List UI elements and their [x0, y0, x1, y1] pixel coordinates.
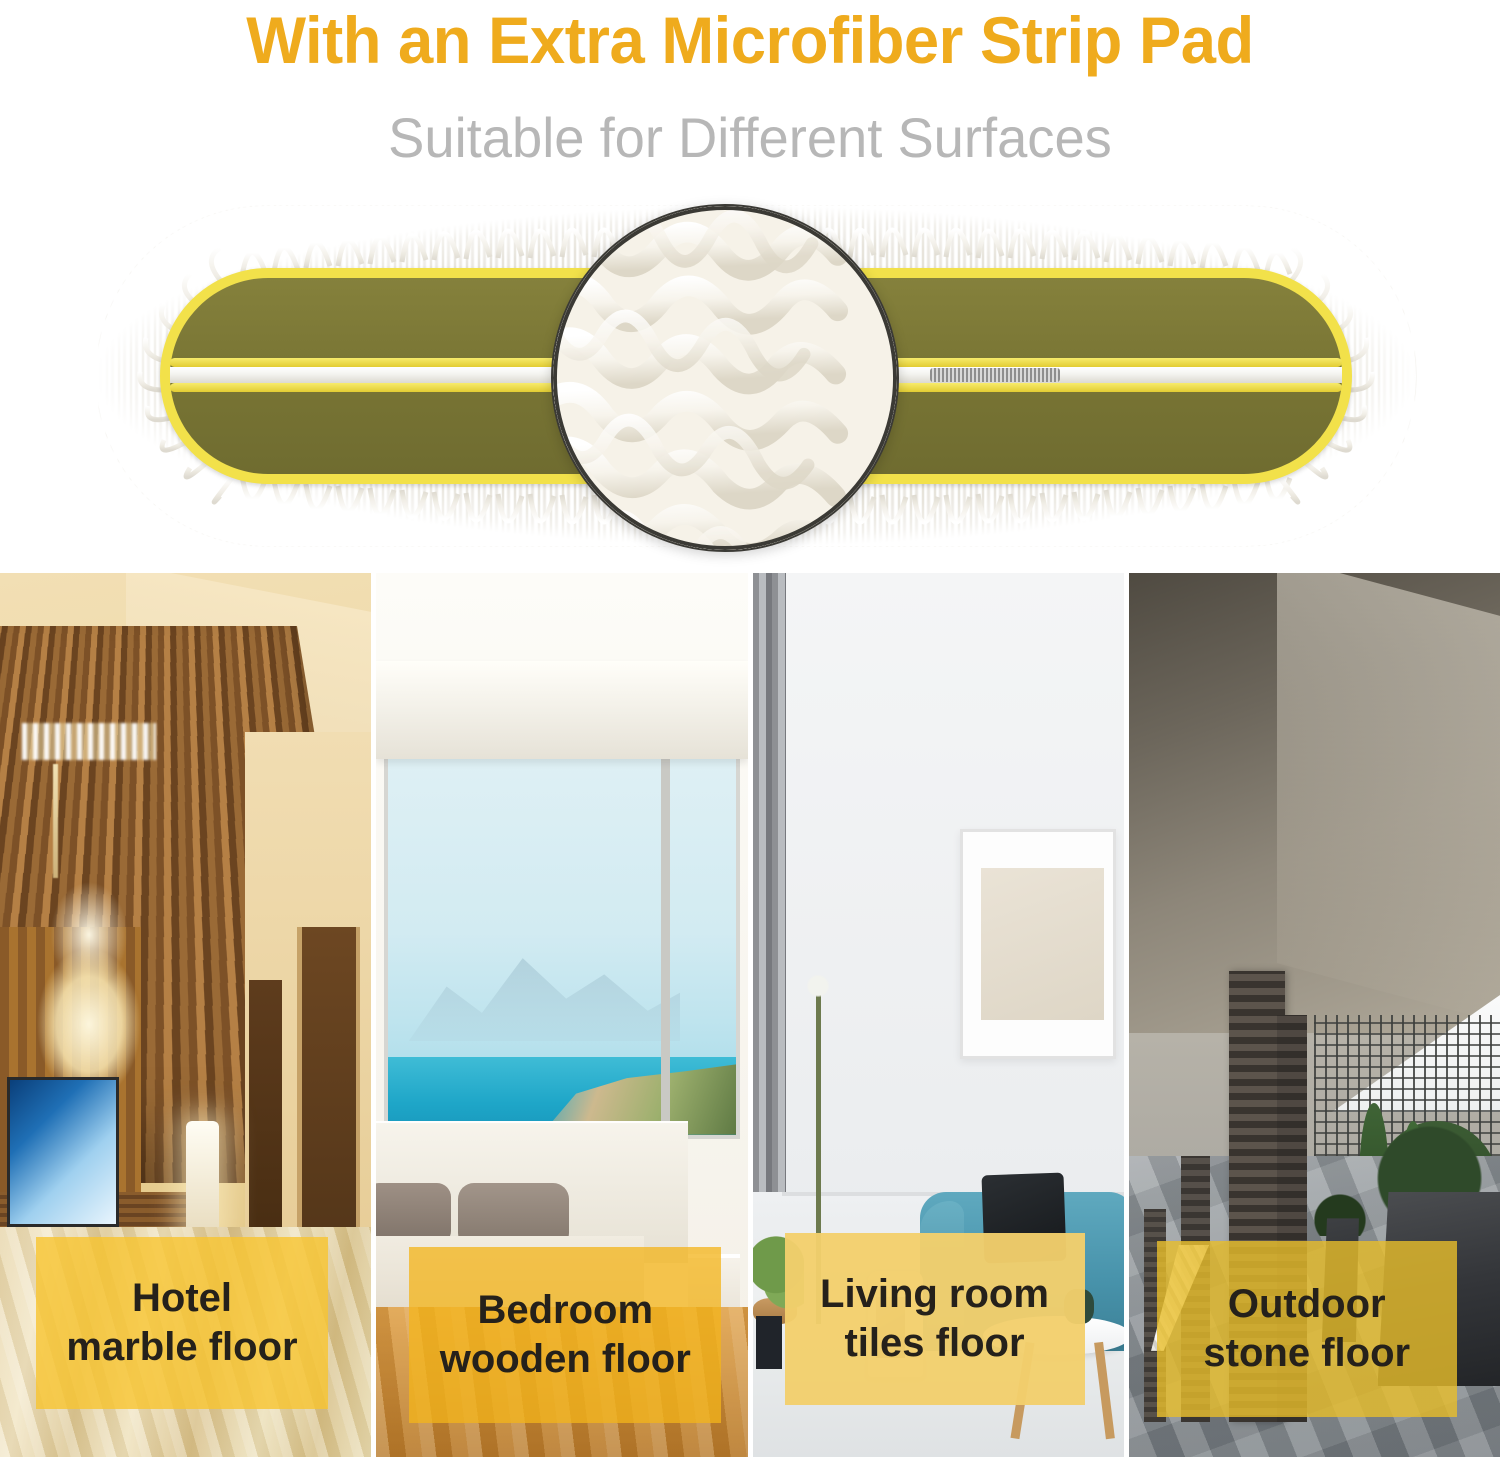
page-subheadline: Suitable for Different Surfaces — [23, 105, 1478, 170]
dust-mop-pad-image — [96, 206, 1416, 546]
framed-artwork — [960, 829, 1116, 1059]
caption-line-2: stone floor — [1203, 1329, 1410, 1378]
caption-line-2: marble floor — [66, 1323, 297, 1372]
panel-caption-outdoor: Outdoor stone floor — [1157, 1241, 1457, 1417]
caption-line-2: wooden floor — [440, 1335, 691, 1384]
panel-bedroom[interactable]: Bedroom wooden floor — [376, 573, 747, 1457]
window — [384, 741, 740, 1139]
caption-line-1: Bedroom — [477, 1286, 653, 1335]
zipper-teeth — [930, 368, 1060, 382]
panel-hotel[interactable]: Hotel marble floor — [0, 573, 371, 1457]
panel-living-room[interactable]: Living room tiles floor — [753, 573, 1124, 1457]
surface-panels-row: Hotel marble floor — [0, 573, 1500, 1457]
hero-product-section — [0, 196, 1500, 556]
product-feature-page: With an Extra Microfiber Strip Pad Suita… — [0, 0, 1500, 1466]
panel-caption-bedroom: Bedroom wooden floor — [409, 1247, 721, 1423]
caption-line-1: Living room — [820, 1270, 1049, 1319]
table-lamp — [186, 1121, 219, 1236]
curtain — [753, 573, 786, 1298]
caption-line-1: Outdoor — [1228, 1280, 1386, 1329]
panel-caption-hotel: Hotel marble floor — [36, 1237, 328, 1409]
chandelier — [22, 723, 156, 1130]
panel-caption-living-room: Living room tiles floor — [785, 1233, 1085, 1405]
caption-line-1: Hotel — [132, 1274, 232, 1323]
tv-screen — [7, 1077, 118, 1227]
caption-line-2: tiles floor — [844, 1319, 1024, 1368]
panel-outdoor[interactable]: Outdoor stone floor — [1129, 573, 1500, 1457]
page-headline: With an Extra Microfiber Strip Pad — [30, 2, 1470, 78]
cotton-loop-closeup-magnifier — [551, 204, 899, 552]
